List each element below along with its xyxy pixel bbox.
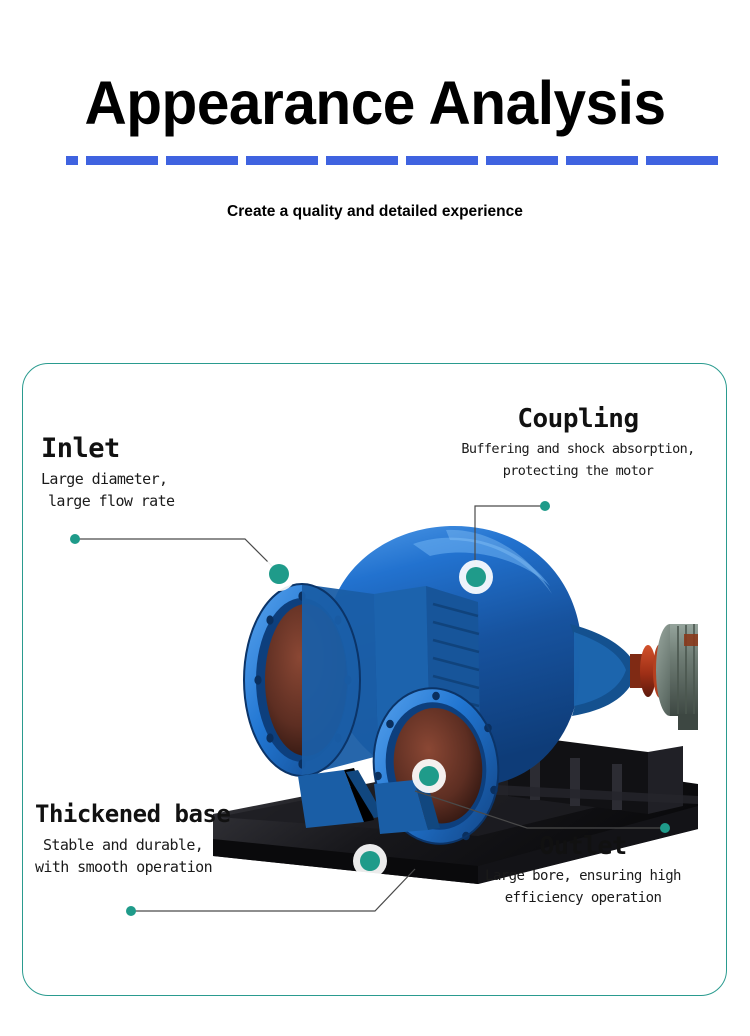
callout-inlet-description: Large diameter, large flow rate [41, 468, 174, 512]
divider-dash-7 [566, 156, 638, 165]
divider-dash-8 [646, 156, 718, 165]
callout-inlet-desc-line2: large flow rate [41, 490, 174, 512]
divider-dash-3 [246, 156, 318, 165]
callout-outlet-title: Outlet [448, 831, 718, 861]
callout-outlet-description: Large bore, ensuring high efficiency ope… [448, 865, 718, 909]
callout-base-title: Thickened base [35, 799, 230, 829]
title-divider [66, 156, 684, 165]
divider-dash-4 [326, 156, 398, 165]
hotspot-marker-inlet[interactable] [262, 557, 296, 591]
hotspot-marker-coupling[interactable] [459, 560, 493, 594]
callout-outlet: Outlet Large bore, ensuring high efficie… [448, 831, 718, 909]
callout-inlet: Inlet Large diameter, large flow rate [41, 434, 174, 512]
callout-inlet-title: Inlet [41, 434, 174, 464]
callout-base-desc-line1: Stable and durable, [35, 834, 230, 856]
callout-coupling-title: Coupling [448, 404, 708, 434]
callout-outlet-desc-line1: Large bore, ensuring high [448, 865, 718, 887]
marker-dot [269, 564, 289, 584]
page-subtitle: Create a quality and detailed experience [11, 203, 739, 221]
electric-motor [656, 606, 698, 730]
product-diagram-card: Inlet Large diameter, large flow rate Co… [22, 363, 727, 996]
divider-dash-0 [66, 156, 78, 165]
pump-product-image [178, 484, 698, 884]
hotspot-marker-base[interactable] [353, 844, 387, 878]
callout-inlet-desc-line1: Large diameter, [41, 468, 174, 490]
marker-dot [360, 851, 380, 871]
callout-base-desc-line2: with smooth operation [35, 856, 230, 878]
divider-dash-2 [166, 156, 238, 165]
callout-coupling-desc-line1: Buffering and shock absorption, [448, 438, 708, 460]
page-header: Appearance Analysis Create a quality and… [0, 0, 750, 340]
callout-thickened-base: Thickened base Stable and durable, with … [35, 799, 230, 878]
leader-endpoint-base [126, 906, 136, 916]
callout-coupling-description: Buffering and shock absorption, protecti… [448, 438, 708, 482]
callout-coupling: Coupling Buffering and shock absorption,… [448, 404, 708, 482]
leader-endpoint-inlet [70, 534, 80, 544]
callout-base-description: Stable and durable, with smooth operatio… [35, 834, 230, 878]
marker-dot [466, 567, 486, 587]
callout-coupling-desc-line2: protecting the motor [448, 460, 708, 482]
page-title: Appearance Analysis [15, 68, 735, 138]
callout-outlet-desc-line2: efficiency operation [448, 887, 718, 909]
divider-dash-5 [406, 156, 478, 165]
marker-dot [419, 766, 439, 786]
divider-dash-1 [86, 156, 158, 165]
divider-dash-6 [486, 156, 558, 165]
pump-inlet-flange [244, 584, 378, 776]
hotspot-marker-outlet[interactable] [412, 759, 446, 793]
